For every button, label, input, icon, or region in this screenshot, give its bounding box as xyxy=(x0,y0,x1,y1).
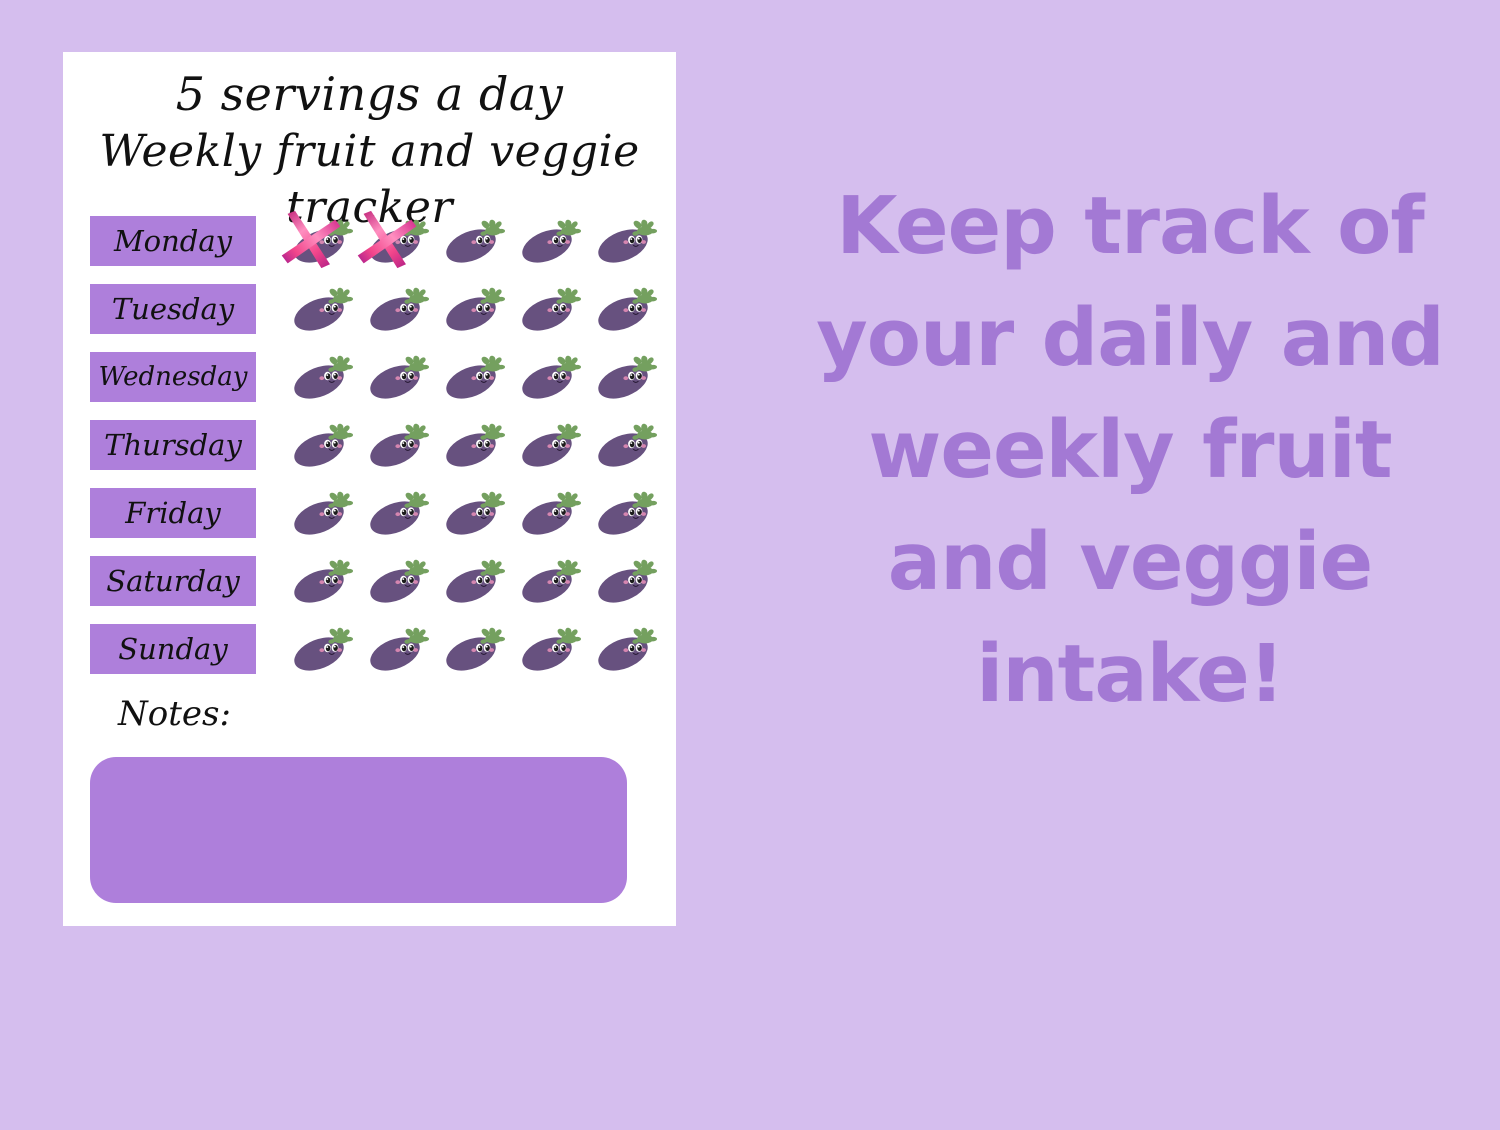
notes-input-box[interactable] xyxy=(90,757,627,903)
serving-slot[interactable] xyxy=(585,346,661,414)
eggplant-icon xyxy=(285,352,353,410)
eggplant-icon xyxy=(513,624,581,682)
serving-slot[interactable] xyxy=(357,550,433,618)
serving-slot[interactable] xyxy=(509,346,585,414)
day-label-box-friday[interactable]: Friday xyxy=(90,488,256,538)
eggplant-icon xyxy=(589,216,657,274)
serving-slot[interactable] xyxy=(433,278,509,346)
serving-slot[interactable] xyxy=(433,550,509,618)
serving-slot[interactable] xyxy=(433,210,509,278)
day-row: Wednesday xyxy=(63,346,676,414)
eggplant-icon xyxy=(437,624,505,682)
serving-slot[interactable] xyxy=(433,618,509,686)
serving-slot[interactable] xyxy=(585,482,661,550)
day-row: Sunday xyxy=(63,618,676,686)
eggplant-icon xyxy=(285,624,353,682)
day-label-text: Thursday xyxy=(104,431,242,460)
eggplant-icon xyxy=(361,488,429,546)
eggplant-icon xyxy=(437,284,505,342)
serving-slot[interactable] xyxy=(281,210,357,278)
eggplant-icon xyxy=(285,216,353,274)
day-row: Thursday xyxy=(63,414,676,482)
serving-slot[interactable] xyxy=(509,618,585,686)
eggplant-icon xyxy=(513,284,581,342)
serving-slot[interactable] xyxy=(281,278,357,346)
day-row: Monday xyxy=(63,210,676,278)
eggplant-icon xyxy=(285,420,353,478)
eggplant-icon xyxy=(361,216,429,274)
serving-slot[interactable] xyxy=(509,278,585,346)
serving-slot[interactable] xyxy=(585,550,661,618)
eggplant-icon xyxy=(285,556,353,614)
serving-slot[interactable] xyxy=(585,210,661,278)
eggplant-icon xyxy=(437,488,505,546)
eggplant-icon xyxy=(589,556,657,614)
eggplant-icon xyxy=(589,284,657,342)
week-grid: MondayTuesdayWednesdayThursdayFridaySatu… xyxy=(63,210,676,686)
servings-row xyxy=(281,482,661,550)
servings-row xyxy=(281,210,661,278)
notes-label: Notes: xyxy=(118,697,231,731)
serving-slot[interactable] xyxy=(509,414,585,482)
serving-slot[interactable] xyxy=(433,482,509,550)
eggplant-icon xyxy=(361,556,429,614)
serving-slot[interactable] xyxy=(357,414,433,482)
poster-canvas: 5 servings a day Weekly fruit and veggie… xyxy=(0,0,1500,1130)
day-row: Tuesday xyxy=(63,278,676,346)
day-label-box-monday[interactable]: Monday xyxy=(90,216,256,266)
eggplant-icon xyxy=(513,216,581,274)
eggplant-icon xyxy=(361,352,429,410)
servings-row xyxy=(281,618,661,686)
serving-slot[interactable] xyxy=(585,414,661,482)
serving-slot[interactable] xyxy=(433,414,509,482)
serving-slot[interactable] xyxy=(357,278,433,346)
eggplant-icon xyxy=(437,216,505,274)
serving-slot[interactable] xyxy=(357,346,433,414)
day-label-box-sunday[interactable]: Sunday xyxy=(90,624,256,674)
eggplant-icon xyxy=(285,284,353,342)
day-label-text: Wednesday xyxy=(99,364,248,390)
serving-slot[interactable] xyxy=(281,550,357,618)
serving-slot[interactable] xyxy=(585,618,661,686)
serving-slot[interactable] xyxy=(509,210,585,278)
day-row: Friday xyxy=(63,482,676,550)
serving-slot[interactable] xyxy=(357,482,433,550)
eggplant-icon xyxy=(513,352,581,410)
eggplant-icon xyxy=(285,488,353,546)
eggplant-icon xyxy=(513,556,581,614)
serving-slot[interactable] xyxy=(281,346,357,414)
eggplant-icon xyxy=(361,420,429,478)
eggplant-icon xyxy=(361,624,429,682)
day-label-box-saturday[interactable]: Saturday xyxy=(90,556,256,606)
day-row: Saturday xyxy=(63,550,676,618)
eggplant-icon xyxy=(589,420,657,478)
day-label-box-tuesday[interactable]: Tuesday xyxy=(90,284,256,334)
serving-slot[interactable] xyxy=(281,414,357,482)
eggplant-icon xyxy=(437,352,505,410)
day-label-text: Tuesday xyxy=(112,295,234,324)
serving-slot[interactable] xyxy=(585,278,661,346)
serving-slot[interactable] xyxy=(357,210,433,278)
servings-row xyxy=(281,346,661,414)
tracker-card: 5 servings a day Weekly fruit and veggie… xyxy=(63,52,676,926)
serving-slot[interactable] xyxy=(509,550,585,618)
eggplant-icon xyxy=(589,488,657,546)
eggplant-icon xyxy=(361,284,429,342)
day-label-box-thursday[interactable]: Thursday xyxy=(90,420,256,470)
eggplant-icon xyxy=(589,352,657,410)
servings-row xyxy=(281,414,661,482)
eggplant-icon xyxy=(513,488,581,546)
eggplant-icon xyxy=(589,624,657,682)
day-label-box-wednesday[interactable]: Wednesday xyxy=(90,352,256,402)
eggplant-icon xyxy=(437,420,505,478)
day-label-text: Monday xyxy=(114,227,232,256)
servings-row xyxy=(281,550,661,618)
serving-slot[interactable] xyxy=(357,618,433,686)
servings-row xyxy=(281,278,661,346)
day-label-text: Sunday xyxy=(118,635,227,664)
eggplant-icon xyxy=(513,420,581,478)
serving-slot[interactable] xyxy=(281,482,357,550)
serving-slot[interactable] xyxy=(509,482,585,550)
eggplant-icon xyxy=(437,556,505,614)
day-label-text: Saturday xyxy=(106,567,240,596)
serving-slot[interactable] xyxy=(433,346,509,414)
day-label-text: Friday xyxy=(125,499,221,528)
tracker-title-line1: 5 servings a day xyxy=(63,66,676,122)
serving-slot[interactable] xyxy=(281,618,357,686)
headline-text: Keep track of your daily and weekly frui… xyxy=(790,170,1470,730)
